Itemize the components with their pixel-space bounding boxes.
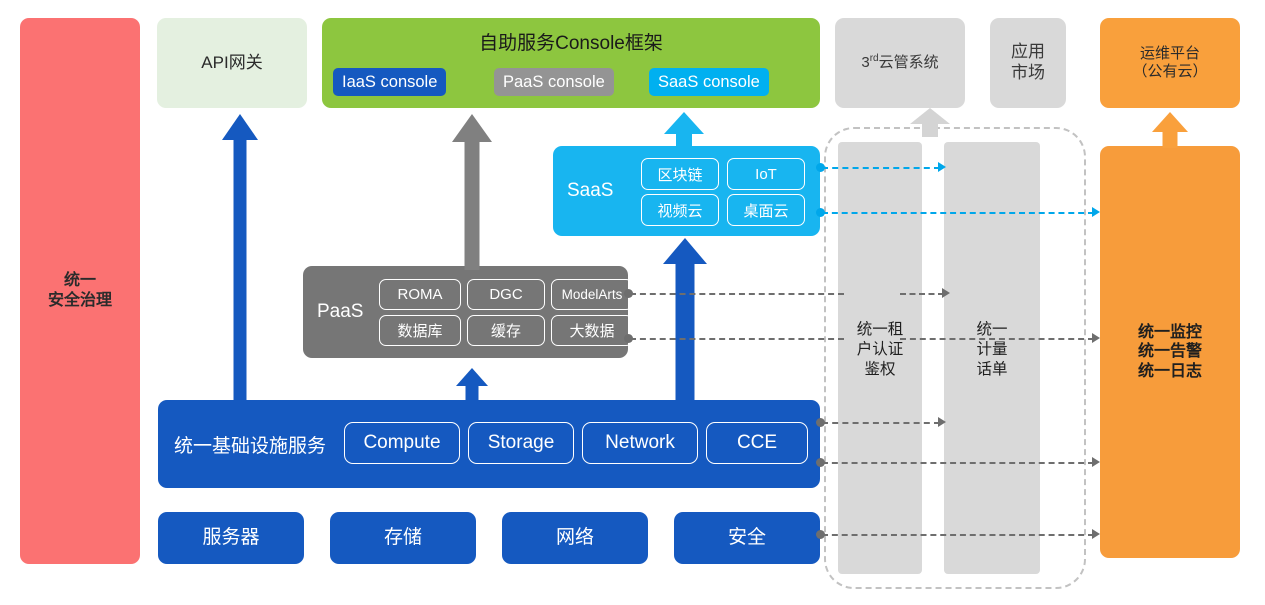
connector-paas-to-ops xyxy=(630,338,844,340)
iaas-console-chip[interactable]: IaaS console xyxy=(333,68,446,96)
unified-ops-label: 统一监控 统一告警 统一日志 xyxy=(1138,323,1202,382)
paas-item-dgc: DGC xyxy=(467,279,545,310)
paas-item-database: 数据库 xyxy=(379,315,461,346)
infra-item-storage: Storage xyxy=(468,422,574,464)
security-governance-label: 统一 安全治理 xyxy=(48,271,112,310)
resource-box-network: 网络 xyxy=(502,512,648,564)
arrow-infra-to-api-gateway xyxy=(222,114,258,402)
paas-item-roma: ROMA xyxy=(379,279,461,310)
saas-item-video-cloud: 视频云 xyxy=(641,194,719,226)
connector-arrowhead-paas-to-ops xyxy=(1092,333,1100,343)
ops-platform-box: 运维平台 （公有云） xyxy=(1100,18,1240,108)
connector-arrowhead-saas-to-ops xyxy=(1092,207,1100,217)
saas-item-desktop-cloud: 桌面云 xyxy=(727,194,805,226)
saas-item-iot: IoT xyxy=(727,158,805,190)
resource-box-storage: 存储 xyxy=(330,512,476,564)
connector-arrowhead-saas-to-auth xyxy=(938,162,946,172)
saas-block: SaaS 区块链 IoT 视频云 桌面云 xyxy=(553,146,820,236)
app-market-box: 应用 市场 xyxy=(990,18,1066,108)
arrow-infra-to-paas xyxy=(456,368,488,402)
arrow-ops-panel-to-ops-platform xyxy=(1152,112,1188,148)
paas-item-modelarts: ModelArts xyxy=(551,279,633,310)
connector-auth-to-metering xyxy=(900,293,944,295)
ops-platform-label: 运维平台 （公有云） xyxy=(1132,45,1207,82)
security-governance-panel: 统一 安全治理 xyxy=(20,18,140,564)
unified-metering-column: 统一 计量 话单 xyxy=(944,142,1040,574)
paas-block: PaaS ROMA DGC ModelArts 数据库 缓存 大数据 xyxy=(303,266,628,358)
third-party-label: 3rd云管系统 xyxy=(861,53,938,72)
connector-saas-to-ops xyxy=(822,212,1094,214)
saas-label: SaaS xyxy=(567,146,613,236)
third-party-superscript: rd xyxy=(870,53,879,64)
paas-item-bigdata: 大数据 xyxy=(551,315,633,346)
third-party-prefix: 3 xyxy=(861,54,869,71)
console-frame-title: 自助服务Console框架 xyxy=(322,28,820,55)
unified-infrastructure-label: 统一基础设施服务 xyxy=(174,400,326,488)
connector-saas-to-auth xyxy=(822,167,940,169)
paas-label: PaaS xyxy=(317,266,363,358)
api-gateway-label: API网关 xyxy=(201,53,262,74)
self-service-console-frame: 自助服务Console框架 IaaS console PaaS console … xyxy=(322,18,820,108)
arrow-paas-to-console xyxy=(452,114,492,270)
infra-item-network: Network xyxy=(582,422,698,464)
unified-ops-panel: 统一监控 统一告警 统一日志 xyxy=(1100,146,1240,558)
unified-tenant-auth-label: 统一租 户认证 鉴权 xyxy=(838,320,922,380)
connector-arrowhead-auth-to-metering xyxy=(942,288,950,298)
unified-tenant-auth-column: 统一租 户认证 鉴权 xyxy=(838,142,922,574)
connector-infra-to-auth xyxy=(822,422,940,424)
architecture-diagram: 统一 安全治理 API网关 自助服务Console框架 IaaS console… xyxy=(0,0,1265,605)
app-market-label: 应用 市场 xyxy=(1011,42,1045,83)
connector-arrowhead-infra-to-ops xyxy=(1092,457,1100,467)
arrow-shared-to-third-party xyxy=(910,108,950,136)
saas-item-blockchain: 区块链 xyxy=(641,158,719,190)
connector-paas-to-ops-2 xyxy=(900,338,1094,340)
connector-infra-to-ops xyxy=(822,462,1094,464)
unified-metering-label: 统一 计量 话单 xyxy=(944,320,1040,380)
connector-arrowhead-infra-to-auth xyxy=(938,417,946,427)
connector-resources-to-ops xyxy=(822,534,1094,536)
saas-console-chip[interactable]: SaaS console xyxy=(649,68,769,96)
connector-arrowhead-resources-to-ops xyxy=(1092,529,1100,539)
paas-item-cache: 缓存 xyxy=(467,315,545,346)
third-party-cloud-mgmt-box: 3rd云管系统 xyxy=(835,18,965,108)
infra-item-cce: CCE xyxy=(706,422,808,464)
resource-box-security: 安全 xyxy=(674,512,820,564)
unified-infrastructure-bar: 统一基础设施服务 Compute Storage Network CCE xyxy=(158,400,820,488)
infra-item-compute: Compute xyxy=(344,422,460,464)
api-gateway-box: API网关 xyxy=(157,18,307,108)
arrow-infra-to-saas xyxy=(663,238,707,402)
resource-box-server: 服务器 xyxy=(158,512,304,564)
arrow-saas-to-console xyxy=(664,112,704,152)
third-party-suffix: 云管系统 xyxy=(879,54,939,71)
paas-console-chip[interactable]: PaaS console xyxy=(494,68,614,96)
connector-paas-to-auth xyxy=(630,293,844,295)
